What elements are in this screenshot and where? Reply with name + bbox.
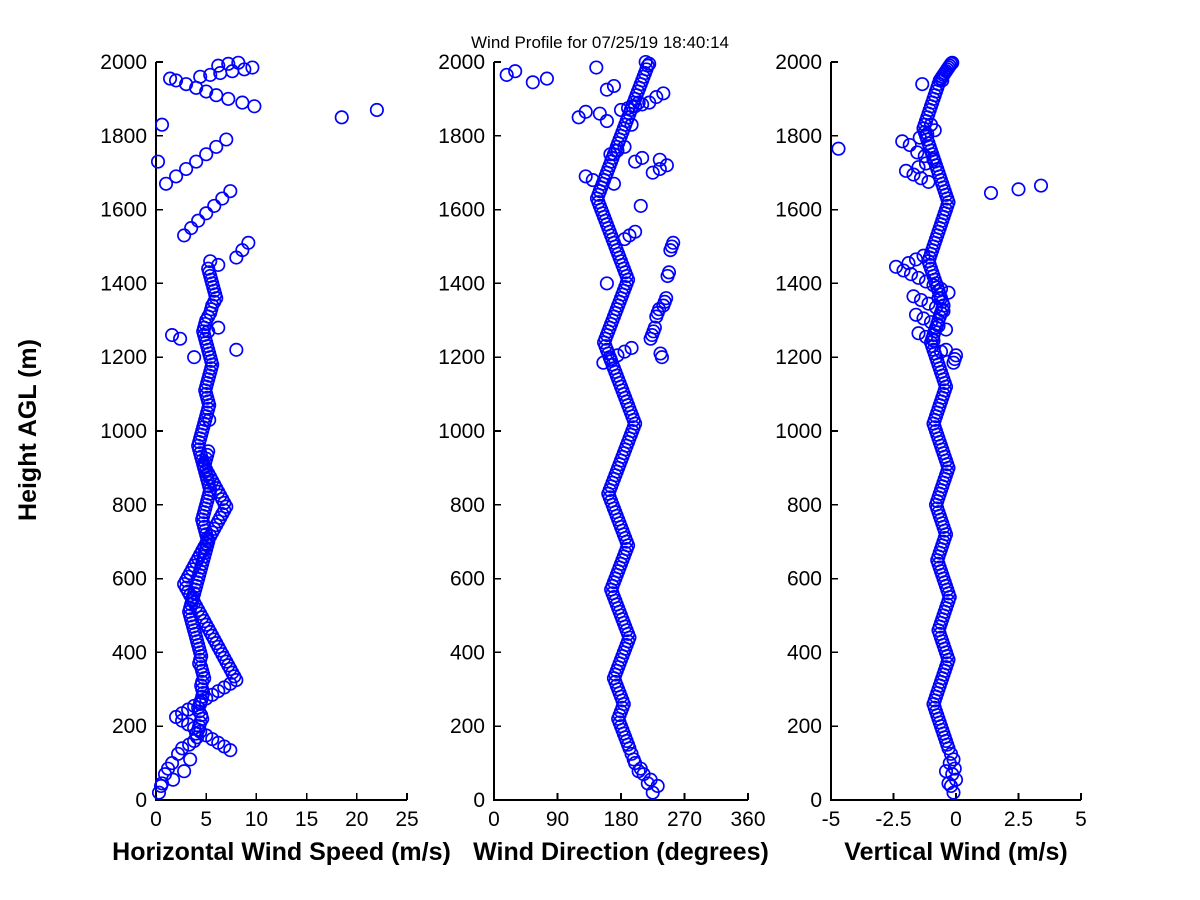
y-tick-label: 800	[787, 494, 822, 517]
y-tick-label: 1200	[100, 346, 147, 369]
x-tick-label: 20	[345, 808, 368, 831]
y-tick-label: 1200	[438, 346, 485, 369]
y-tick-label: 1600	[438, 199, 485, 222]
y-tick-label: 400	[112, 641, 147, 664]
y-tick-label: 1400	[100, 272, 147, 295]
y-tick-label: 400	[450, 641, 485, 664]
x-tick-label: 90	[546, 808, 569, 831]
x-tick-label: 0	[150, 808, 162, 831]
y-tick-label: 2000	[100, 51, 147, 74]
y-tick-label: 600	[450, 568, 485, 591]
y-tick-label: 800	[450, 494, 485, 517]
y-tick-label: 600	[787, 568, 822, 591]
y-tick-label: 1800	[100, 125, 147, 148]
x-tick-label: -2.5	[875, 808, 911, 831]
x-axis-label: Wind Direction (degrees)	[473, 838, 769, 866]
y-tick-label: 1800	[438, 125, 485, 148]
x-tick-label: 270	[667, 808, 702, 831]
y-tick-label: 200	[787, 715, 822, 738]
x-tick-label: 10	[245, 808, 268, 831]
wind-profile-figure: Wind Profile for 07/25/19 18:40:14 Heigh…	[0, 0, 1200, 900]
x-tick-label: 2.5	[1004, 808, 1033, 831]
y-tick-label: 1800	[775, 125, 822, 148]
wind-profile-svg: Wind Profile for 07/25/19 18:40:14 Heigh…	[0, 0, 1200, 900]
y-tick-label: 0	[810, 789, 822, 812]
y-tick-label: 0	[135, 789, 147, 812]
y-tick-label: 2000	[438, 51, 485, 74]
y-tick-label: 200	[450, 715, 485, 738]
x-tick-label: 360	[730, 808, 765, 831]
y-axis-label: Height AGL (m)	[14, 339, 42, 521]
y-tick-label: 1000	[100, 420, 147, 443]
y-tick-label: 1000	[775, 420, 822, 443]
x-axis-label: Horizontal Wind Speed (m/s)	[112, 838, 451, 866]
x-tick-label: 0	[488, 808, 500, 831]
x-tick-label: -5	[822, 808, 841, 831]
x-tick-label: 0	[950, 808, 962, 831]
x-tick-label: 5	[1075, 808, 1087, 831]
x-tick-label: 25	[395, 808, 418, 831]
y-tick-label: 1200	[775, 346, 822, 369]
y-tick-label: 1600	[775, 199, 822, 222]
y-tick-label: 1600	[100, 199, 147, 222]
y-tick-label: 200	[112, 715, 147, 738]
y-tick-label: 600	[112, 568, 147, 591]
y-tick-label: 2000	[775, 51, 822, 74]
y-tick-label: 1400	[438, 272, 485, 295]
x-tick-label: 5	[200, 808, 212, 831]
x-axis-label: Vertical Wind (m/s)	[844, 838, 1067, 866]
x-tick-label: 180	[603, 808, 638, 831]
y-tick-label: 0	[473, 789, 485, 812]
y-tick-label: 1400	[775, 272, 822, 295]
y-tick-label: 1000	[438, 420, 485, 443]
x-tick-label: 15	[295, 808, 318, 831]
y-tick-label: 800	[112, 494, 147, 517]
figure-title: Wind Profile for 07/25/19 18:40:14	[471, 33, 729, 52]
y-tick-label: 400	[787, 641, 822, 664]
figure-background	[0, 0, 1200, 900]
